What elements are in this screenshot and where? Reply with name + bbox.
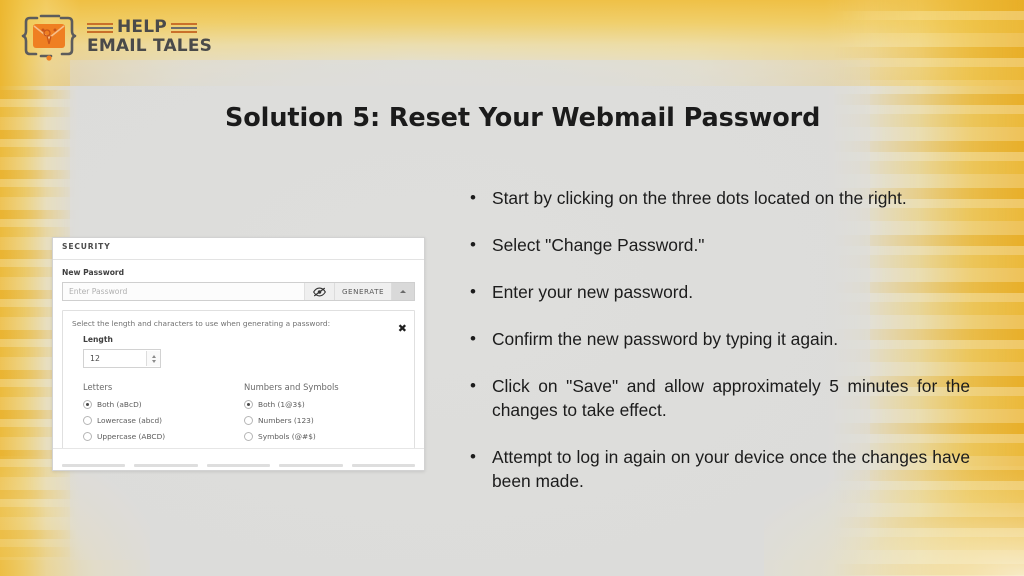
radio-icon[interactable] xyxy=(244,432,253,441)
logo-rule-right xyxy=(171,23,197,33)
generate-password-button[interactable]: GENERATE xyxy=(335,283,392,300)
numbers-symbols-option-both[interactable]: Both (1@3$) xyxy=(244,400,405,409)
bullet-marker-icon: • xyxy=(470,233,492,257)
eye-off-icon[interactable] xyxy=(305,283,335,300)
list-item-text: Click on "Save" and allow approximately … xyxy=(492,374,970,422)
new-password-row: Enter Password GENERATE xyxy=(62,282,415,301)
numbers-symbols-option-label: Numbers (123) xyxy=(258,416,314,425)
list-item: • Enter your new password. xyxy=(470,280,970,304)
numbers-symbols-radio-group: Numbers and Symbols Both (1@3$) Numbers … xyxy=(244,382,405,448)
new-password-label: New Password xyxy=(62,268,415,277)
close-icon[interactable]: ✖ xyxy=(398,323,407,334)
instruction-list: • Start by clicking on the three dots lo… xyxy=(470,186,970,493)
letters-option-label: Both (aBcD) xyxy=(97,400,142,409)
letters-option-lowercase[interactable]: Lowercase (abcd) xyxy=(83,416,244,425)
bullet-marker-icon: • xyxy=(470,280,492,304)
envelope-bracket-logo-icon xyxy=(20,11,78,63)
page-title: Solution 5: Reset Your Webmail Password xyxy=(225,103,825,133)
list-item-text: Start by clicking on the three dots loca… xyxy=(492,186,970,210)
brand-wordmark: HELP EMAIL TALES xyxy=(87,19,212,55)
brand-line-1: HELP xyxy=(117,19,167,36)
list-item-text: Confirm the new password by typing it ag… xyxy=(492,327,970,351)
panel-footer-placeholders xyxy=(53,448,424,470)
radio-icon[interactable] xyxy=(83,432,92,441)
placeholder-bar xyxy=(352,464,415,467)
security-panel-screenshot: SECURITY New Password Enter Password GEN… xyxy=(52,237,425,471)
numbers-symbols-option-label: Both (1@3$) xyxy=(258,400,305,409)
placeholder-bar xyxy=(134,464,197,467)
letters-option-both[interactable]: Both (aBcD) xyxy=(83,400,244,409)
letters-option-label: Lowercase (abcd) xyxy=(97,416,162,425)
list-item-text: Enter your new password. xyxy=(492,280,970,304)
generator-hint-text: Select the length and characters to use … xyxy=(72,319,405,328)
list-item: • Attempt to log in again on your device… xyxy=(470,445,970,493)
watercolor-wash-bottom-left xyxy=(0,456,150,576)
numbers-symbols-option-symbols[interactable]: Symbols (@#$) xyxy=(244,432,405,441)
security-panel-header: SECURITY xyxy=(53,238,424,260)
bullet-marker-icon: • xyxy=(470,445,492,493)
letters-option-label: Uppercase (ABCD) xyxy=(97,432,165,441)
radio-icon[interactable] xyxy=(244,400,253,409)
length-spinner-icon[interactable] xyxy=(146,351,160,366)
list-item-text: Select "Change Password." xyxy=(492,233,970,257)
numbers-symbols-group-title: Numbers and Symbols xyxy=(244,382,405,392)
character-option-groups: Letters Both (aBcD) Lowercase (abcd) Upp… xyxy=(83,382,405,448)
brand-logo: HELP EMAIL TALES xyxy=(20,8,220,66)
letters-radio-group: Letters Both (aBcD) Lowercase (abcd) Upp… xyxy=(83,382,244,448)
radio-icon[interactable] xyxy=(83,400,92,409)
length-stepper[interactable]: 12 xyxy=(83,349,161,368)
letters-group-title: Letters xyxy=(83,382,244,392)
list-item-text: Attempt to log in again on your device o… xyxy=(492,445,970,493)
placeholder-bar xyxy=(62,464,125,467)
length-value[interactable]: 12 xyxy=(84,354,146,363)
numbers-symbols-option-label: Symbols (@#$) xyxy=(258,432,316,441)
radio-icon[interactable] xyxy=(244,416,253,425)
radio-icon[interactable] xyxy=(83,416,92,425)
bullet-marker-icon: • xyxy=(470,374,492,422)
length-label: Length xyxy=(83,335,405,344)
list-item: • Click on "Save" and allow approximatel… xyxy=(470,374,970,422)
list-item: • Start by clicking on the three dots lo… xyxy=(470,186,970,210)
placeholder-bar xyxy=(207,464,270,467)
security-panel-body: New Password Enter Password GENERATE Sel… xyxy=(53,260,424,460)
brand-line-2: EMAIL TALES xyxy=(87,38,212,55)
list-item: • Confirm the new password by typing it … xyxy=(470,327,970,351)
list-item: • Select "Change Password." xyxy=(470,233,970,257)
new-password-input[interactable]: Enter Password xyxy=(63,283,305,300)
letters-option-uppercase[interactable]: Uppercase (ABCD) xyxy=(83,432,244,441)
bullet-marker-icon: • xyxy=(470,186,492,210)
numbers-symbols-option-numbers[interactable]: Numbers (123) xyxy=(244,416,405,425)
bullet-marker-icon: • xyxy=(470,327,492,351)
password-generator-popover: Select the length and characters to use … xyxy=(62,310,415,460)
chevron-up-icon[interactable] xyxy=(392,283,414,300)
placeholder-bar xyxy=(279,464,342,467)
logo-rule-left xyxy=(87,23,113,33)
